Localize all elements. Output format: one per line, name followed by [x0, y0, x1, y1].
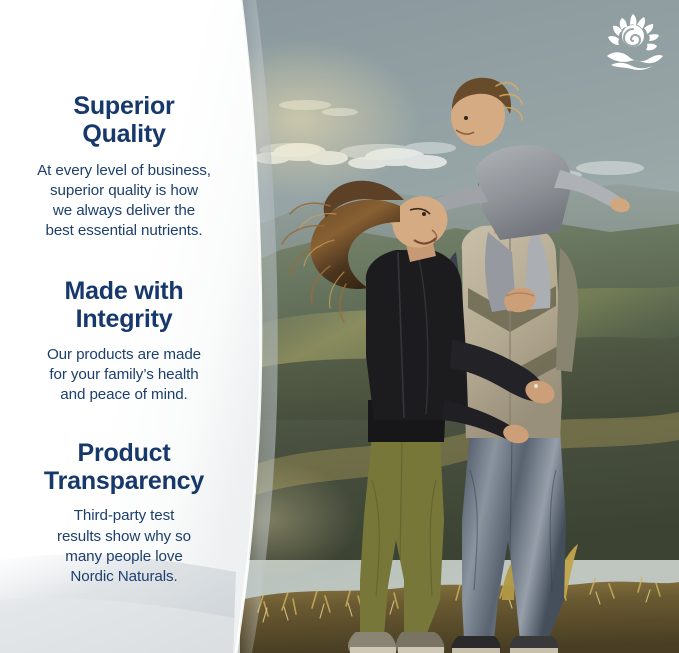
pillar-heading-made-with-integrity: Made withIntegrity [12, 277, 236, 333]
pillar-superior-quality: SuperiorQuality At every level of busine… [12, 92, 236, 241]
heading-line-2: Transparency [44, 467, 204, 495]
pillar-heading-superior-quality: SuperiorQuality [12, 92, 236, 148]
body-line-2: for your family’s health [49, 366, 198, 383]
body-line-1: At every level of business, [37, 162, 211, 179]
pillar-heading-product-transparency: ProductTransparency [12, 439, 236, 495]
body-line-1: Our products are made [47, 346, 201, 363]
pillar-body-superior-quality: At every level of business,superior qual… [12, 161, 236, 241]
body-line-3: we always deliver the [53, 202, 195, 219]
body-line-4: Nordic Naturals. [70, 568, 177, 585]
nordic-naturals-sun-wave-logo [603, 12, 665, 70]
pillar-body-product-transparency: Third-party testresults show why somany … [12, 506, 236, 586]
brand-pillars-text-column: SuperiorQuality At every level of busine… [0, 0, 248, 653]
heading-line-2: Integrity [76, 305, 173, 333]
body-line-4: best essential nutrients. [45, 222, 202, 239]
pillar-made-with-integrity: Made withIntegrity Our products are made… [12, 277, 236, 405]
body-line-1: Third-party test [74, 507, 175, 524]
pillar-body-made-with-integrity: Our products are madefor your family’s h… [12, 345, 236, 405]
pillar-product-transparency: ProductTransparency Third-party testresu… [12, 439, 236, 586]
body-line-2: results show why so [57, 528, 191, 545]
heading-line-1: Product [77, 439, 170, 467]
heading-line-2: Quality [82, 120, 165, 148]
body-line-3: many people love [65, 548, 182, 565]
heading-line-1: Superior [73, 92, 174, 120]
heading-line-1: Made with [64, 277, 183, 305]
nordic-naturals-banner: SuperiorQuality At every level of busine… [0, 0, 679, 653]
body-line-3: and peace of mind. [60, 386, 187, 403]
body-line-2: superior quality is how [50, 182, 198, 199]
